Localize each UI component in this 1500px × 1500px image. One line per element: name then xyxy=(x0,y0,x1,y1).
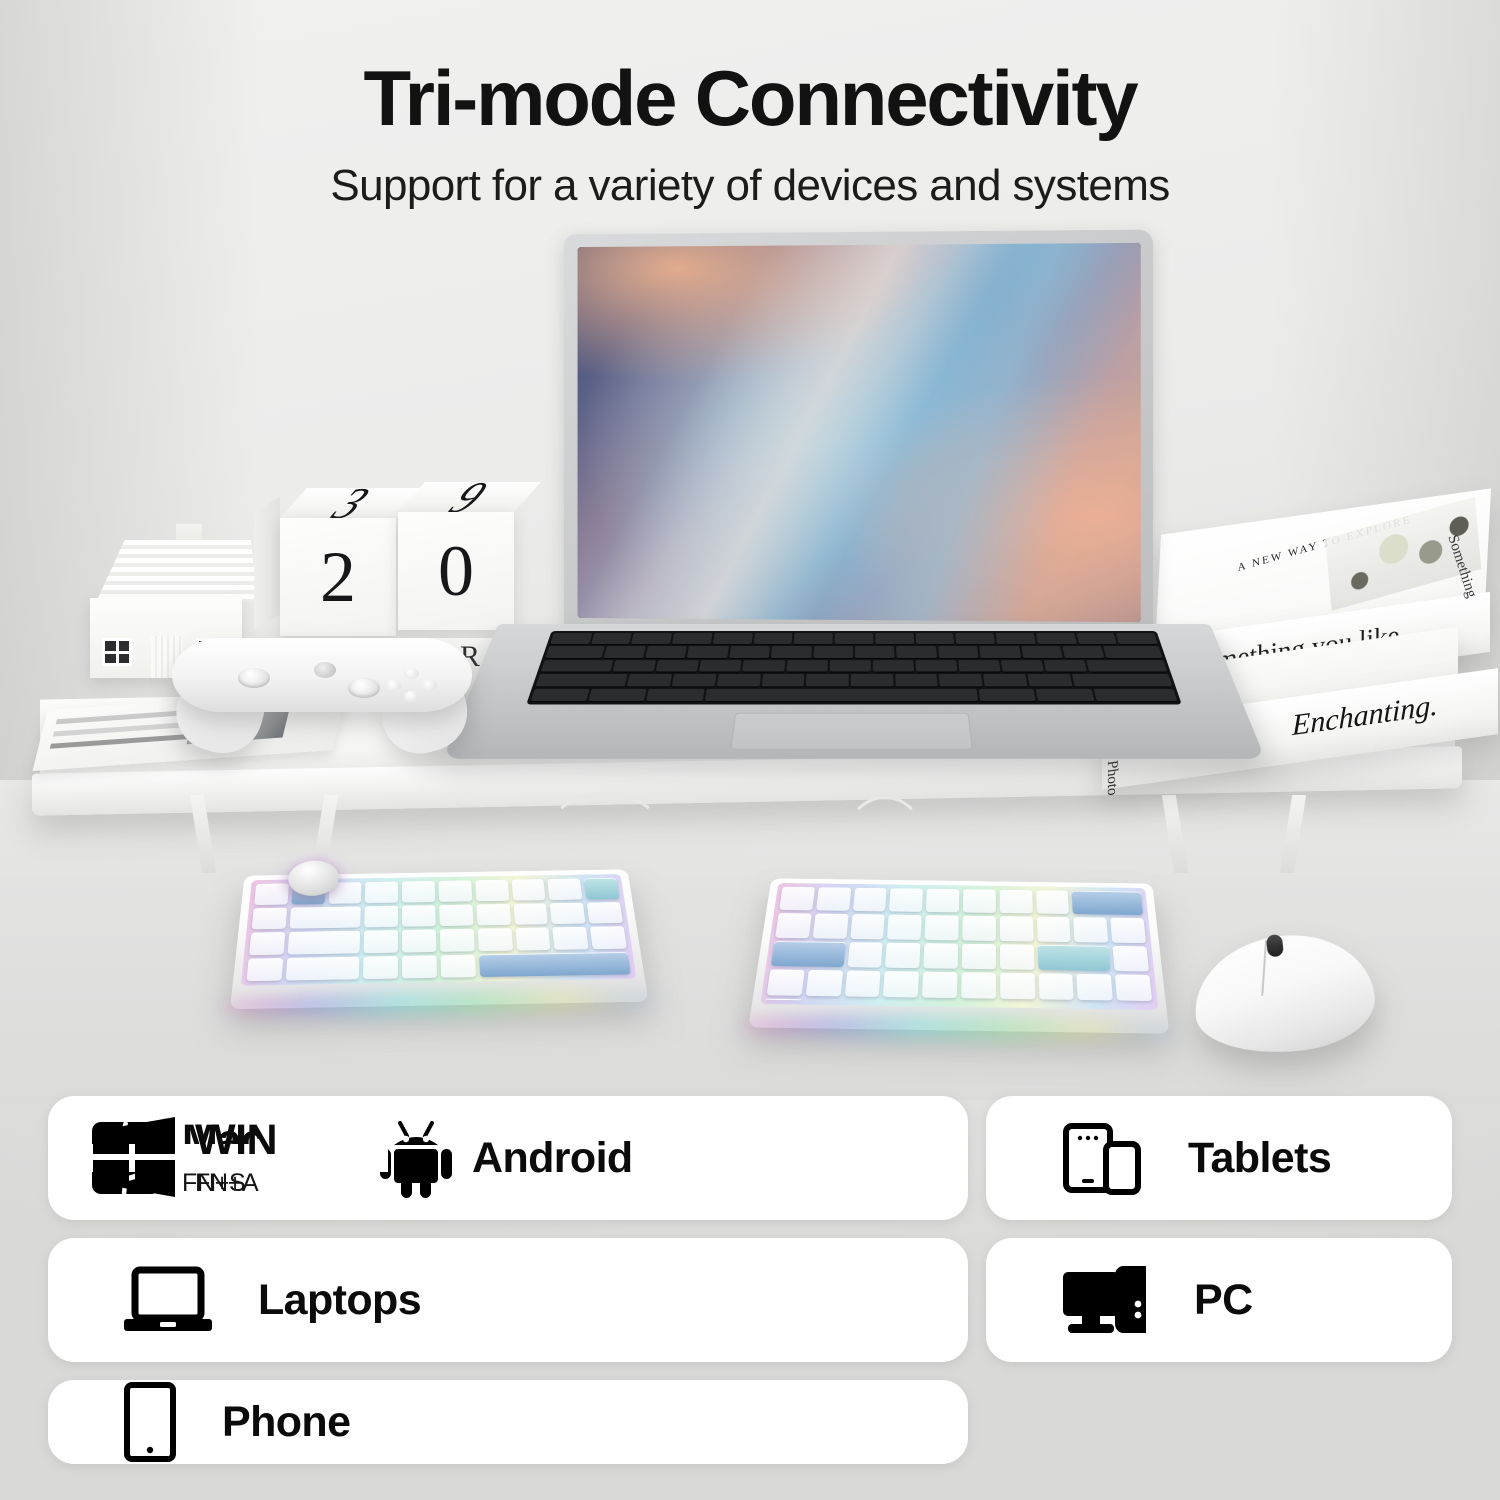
key-row xyxy=(530,689,1177,702)
windows-text-block: WIN FN+A xyxy=(195,1119,277,1198)
device-label-laptops: Laptops xyxy=(258,1276,421,1325)
laptop-keyboard xyxy=(526,631,1182,704)
house-window xyxy=(102,638,132,666)
device-label-phone: Phone xyxy=(222,1398,350,1447)
laptop-base xyxy=(443,624,1265,759)
key-row xyxy=(535,674,1172,687)
desktop-pc-icon xyxy=(1060,1260,1150,1340)
cube-front-digit-left: 2 xyxy=(280,518,396,636)
controller-home-button xyxy=(314,662,336,678)
laptop-lid xyxy=(564,230,1153,635)
laptop-computer xyxy=(560,232,1150,792)
os-compatibility-card[interactable]: WIN FN+A Mac FN+S xyxy=(48,1096,968,1220)
key-row xyxy=(545,646,1163,658)
os-item-android[interactable]: Android xyxy=(378,1117,633,1199)
key-row xyxy=(540,660,1167,673)
laptop-trackpad xyxy=(730,713,973,750)
tablet-icon xyxy=(1060,1116,1144,1200)
game-controller xyxy=(172,620,472,750)
split-keyboard-left-half xyxy=(230,869,649,1009)
keycap-plate xyxy=(760,883,1158,1010)
os-name-windows: WIN xyxy=(195,1119,277,1162)
house-roof xyxy=(78,540,258,602)
keyboard-cable xyxy=(845,796,925,882)
mouse-scroll-wheel xyxy=(1266,934,1284,958)
page-subtitle: Support for a variety of devices and sys… xyxy=(0,161,1500,211)
laptop-icon xyxy=(122,1264,214,1336)
device-card-tablets[interactable]: Tablets xyxy=(986,1096,1452,1220)
controller-stick-left xyxy=(238,668,270,688)
second-book-title: Enchanting. xyxy=(1292,689,1438,743)
keyboard-cable xyxy=(545,792,665,882)
page-title: Tri-mode Connectivity xyxy=(0,58,1500,139)
os-name-android: Android xyxy=(472,1134,633,1183)
windows-logo-icon xyxy=(91,1116,177,1200)
device-card-laptops[interactable]: Laptops xyxy=(48,1238,968,1362)
android-robot-icon xyxy=(378,1117,454,1199)
cube-front-digit-right: 0 xyxy=(398,512,514,630)
cube-side-face xyxy=(254,497,280,630)
device-label-pc: PC xyxy=(1194,1276,1253,1325)
device-label-tablets: Tablets xyxy=(1188,1134,1331,1183)
wallpaper-blue-band xyxy=(578,243,1141,622)
controller-body xyxy=(172,638,472,712)
os-shortcut-windows: FN+A xyxy=(195,1169,277,1198)
header-block: Tri-mode Connectivity Support for a vari… xyxy=(0,58,1500,211)
phone-icon xyxy=(122,1380,178,1464)
controller-button-cluster xyxy=(386,668,438,702)
split-keyboard-right-half xyxy=(748,878,1169,1033)
controller-stick-right xyxy=(348,678,380,698)
device-card-pc[interactable]: PC xyxy=(986,1238,1452,1362)
os-item-windows[interactable]: WIN FN+A xyxy=(88,1144,388,1172)
laptop-screen xyxy=(578,243,1141,622)
device-card-phone[interactable]: Phone xyxy=(48,1380,968,1464)
key-row xyxy=(550,633,1158,645)
compatibility-card-grid: WIN FN+A Mac FN+S xyxy=(48,1096,1452,1464)
